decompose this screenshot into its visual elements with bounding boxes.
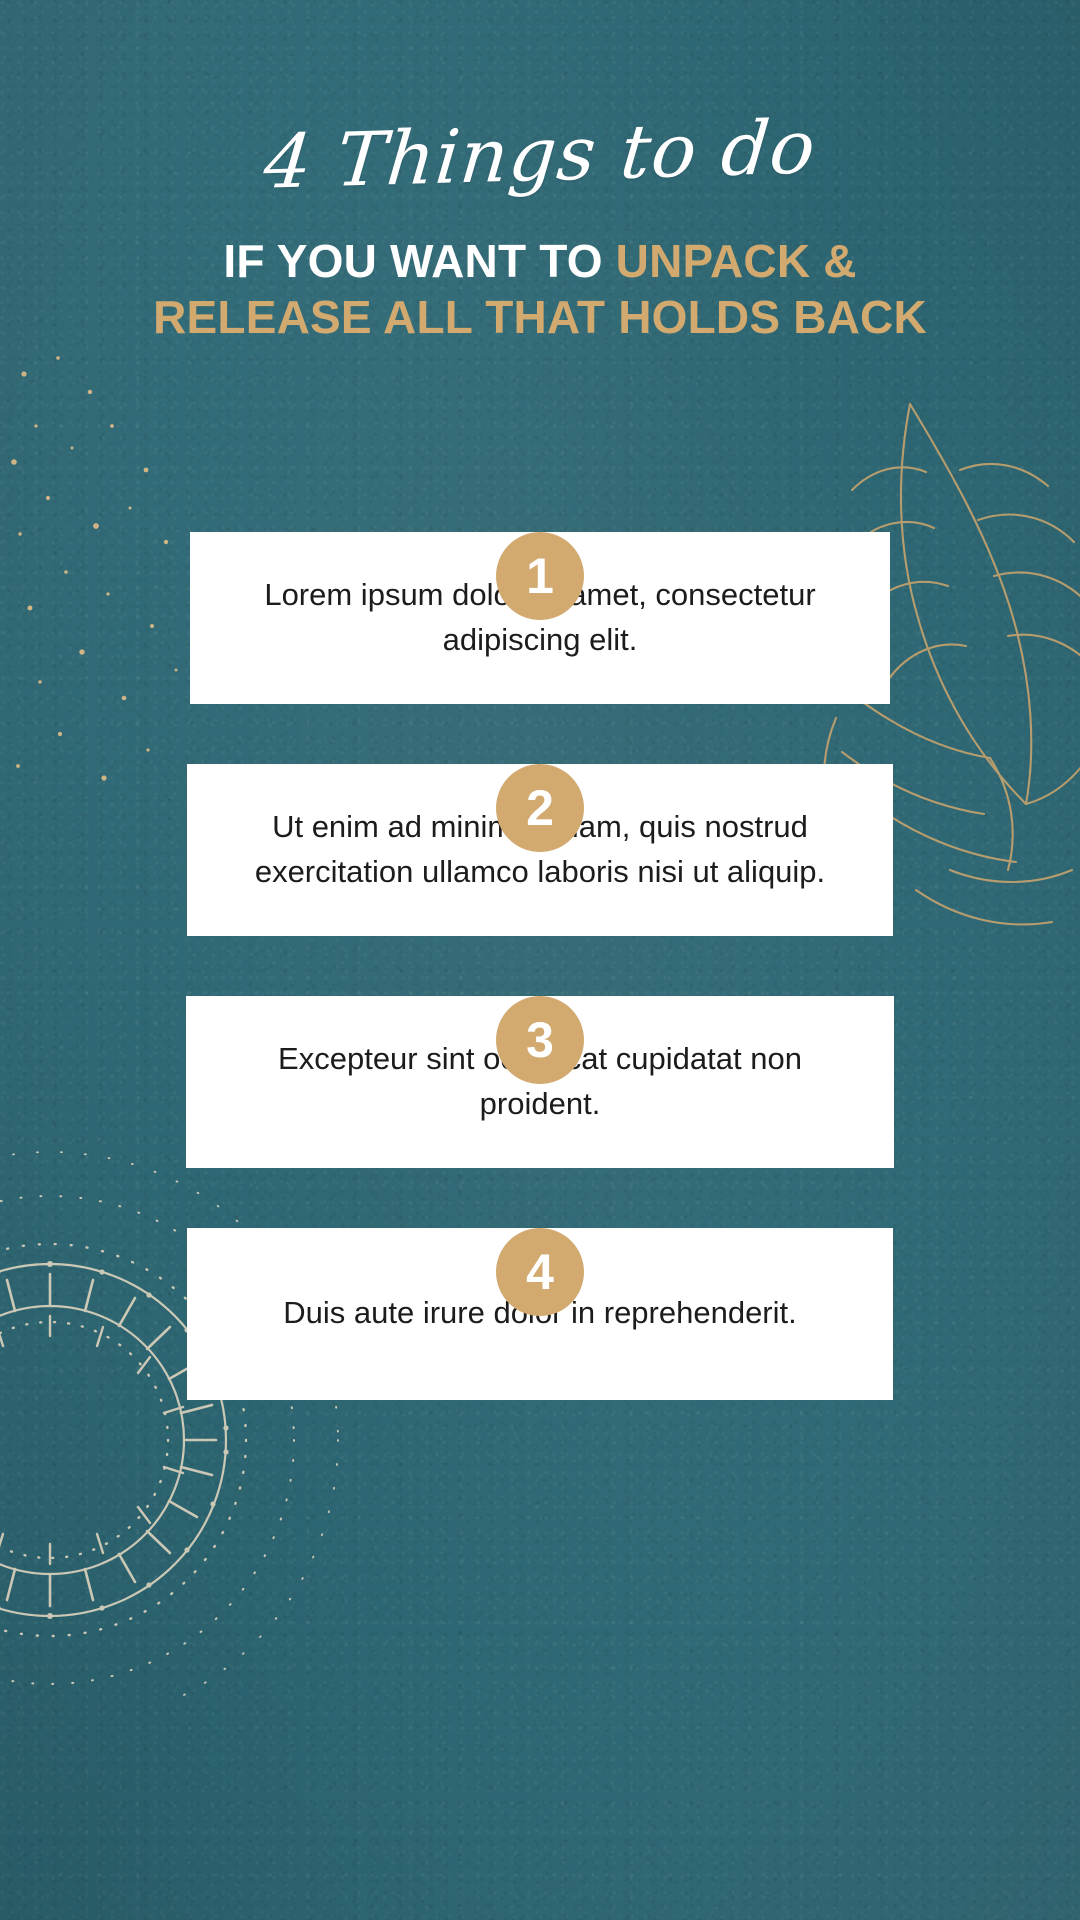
card-list: 1 Lorem ipsum dolor sit amet, consectetu… [0,488,1080,1400]
list-item: 1 Lorem ipsum dolor sit amet, consectetu… [0,532,1080,704]
list-item: 3 Excepteur sint occaecat cupidatat non … [0,996,1080,1168]
step-number-badge: 1 [496,532,584,620]
headline-white-part: IF YOU WANT TO [223,235,615,287]
step-number-badge: 2 [496,764,584,852]
step-number-badge: 4 [496,1228,584,1316]
poster-header: 4 Things to do IF YOU WANT TO UNPACK & R… [0,0,1080,346]
script-title: 4 Things to do [0,103,1080,207]
page-title: IF YOU WANT TO UNPACK & RELEASE ALL THAT… [0,234,1080,346]
poster-canvas: 4 Things to do IF YOU WANT TO UNPACK & R… [0,0,1080,1920]
step-number-badge: 3 [496,996,584,1084]
list-item: 2 Ut enim ad minim veniam, quis nostrud … [0,764,1080,936]
list-item: 4 Duis aute irure dolor in reprehenderit… [0,1228,1080,1400]
